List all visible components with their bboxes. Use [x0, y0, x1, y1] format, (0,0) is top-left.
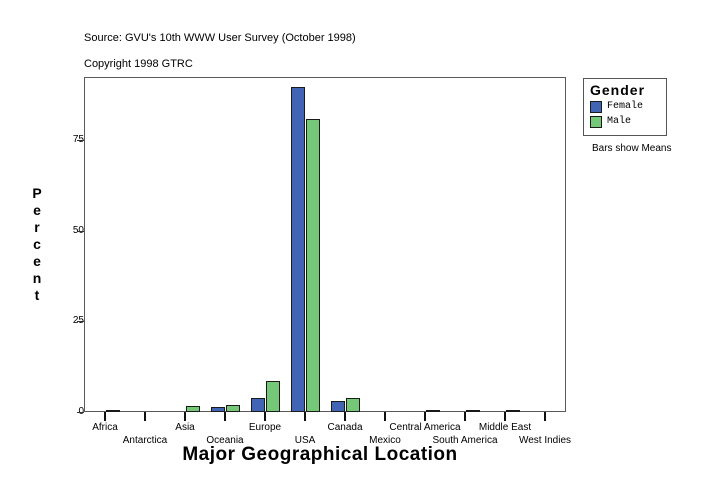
x-tick-mark — [344, 412, 346, 421]
legend-title: Gender — [590, 82, 660, 99]
x-tick-mark — [504, 412, 506, 421]
x-tick-mark — [384, 412, 386, 421]
legend: Gender FemaleMale — [583, 78, 667, 136]
bar-oceania-male — [226, 405, 240, 412]
bar-europe-female — [251, 398, 265, 412]
bar-central-america-male — [426, 410, 440, 412]
x-tick-mark — [144, 412, 146, 421]
plot-frame — [84, 77, 566, 412]
bar-middle-east-male — [506, 410, 520, 412]
bar-oceania-female — [211, 407, 225, 412]
y-tick-mark — [77, 140, 84, 141]
x-tick-mark — [424, 412, 426, 421]
bar-europe-male — [266, 381, 280, 412]
x-tick-label-asia: Asia — [175, 422, 194, 433]
bar-canada-male — [346, 398, 360, 412]
legend-swatch-female — [590, 101, 602, 113]
x-tick-label-central-america: Central America — [389, 422, 460, 433]
legend-item-male[interactable]: Male — [590, 115, 660, 129]
x-tick-mark — [264, 412, 266, 421]
bar-africa-male — [106, 410, 120, 412]
y-axis-ticks: 0255075 — [43, 0, 84, 502]
legend-label-female: Female — [607, 101, 643, 113]
copyright-caption: Copyright 1998 GTRC — [84, 58, 193, 71]
x-tick-label-europe: Europe — [249, 422, 281, 433]
plot-area — [85, 78, 565, 411]
source-caption: Source: GVU's 10th WWW User Survey (Octo… — [84, 32, 356, 45]
legend-entries: FemaleMale — [590, 100, 660, 129]
y-tick-mark — [77, 412, 84, 413]
bar-south-america-male — [466, 410, 480, 412]
bar-canada-female — [331, 401, 345, 412]
bar-asia-male — [186, 406, 200, 412]
x-tick-mark — [104, 412, 106, 421]
legend-item-female[interactable]: Female — [590, 100, 660, 114]
x-tick-mark — [224, 412, 226, 421]
legend-note: Bars show Means — [592, 143, 671, 155]
bar-usa-male — [306, 119, 320, 412]
x-tick-mark — [464, 412, 466, 421]
x-tick-mark — [304, 412, 306, 421]
x-tick-label-canada: Canada — [327, 422, 362, 433]
legend-swatch-male — [590, 116, 602, 128]
y-tick-mark — [77, 231, 84, 232]
x-tick-label-middle-east: Middle East — [479, 422, 531, 433]
legend-label-male: Male — [607, 116, 631, 128]
x-tick-label-africa: Africa — [92, 422, 118, 433]
y-tick-mark — [77, 321, 84, 322]
bar-usa-female — [291, 87, 305, 412]
x-tick-mark — [184, 412, 186, 421]
x-axis-title: Major Geographical Location — [0, 444, 640, 466]
x-tick-mark — [544, 412, 546, 421]
